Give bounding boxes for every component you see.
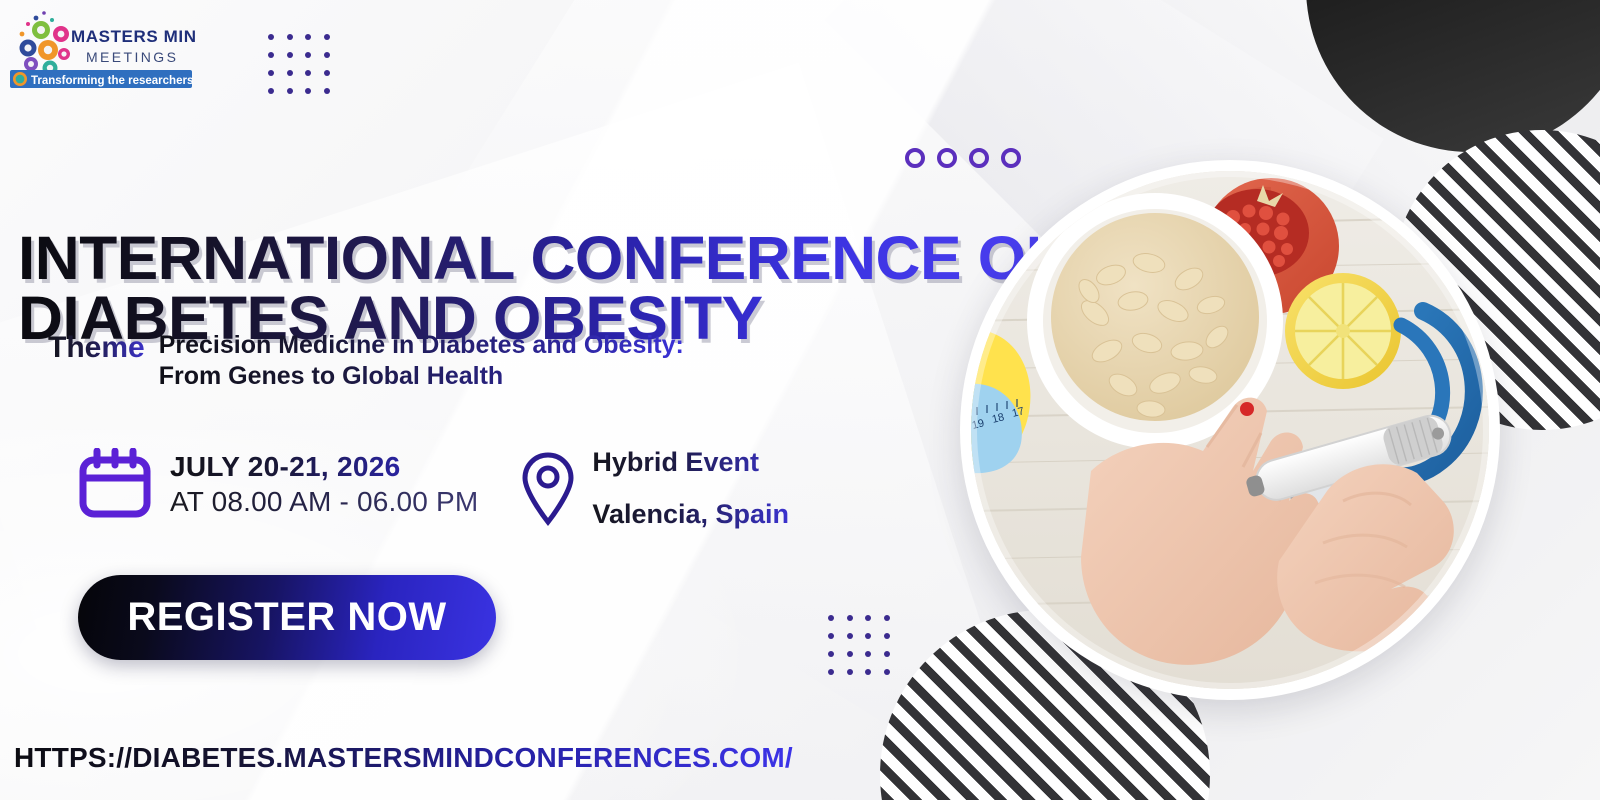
ring-icon bbox=[969, 148, 989, 168]
ring-icon bbox=[937, 148, 957, 168]
logo-tagline: Transforming the researchers Future bbox=[31, 75, 196, 87]
theme-line-1: Precision Medicine in Diabetes and Obesi… bbox=[159, 330, 684, 361]
hero-photo-frame: 19 18 17 bbox=[960, 160, 1500, 700]
event-mode: Hybrid Event bbox=[592, 448, 789, 478]
logo-title: MASTERS MIND bbox=[71, 27, 196, 46]
event-time: AT 08.00 AM - 06.00 PM bbox=[170, 486, 478, 518]
logo-subtitle: MEETINGS bbox=[86, 49, 178, 65]
ring-row-decoration bbox=[905, 148, 1021, 168]
headline-line-1: INTERNATIONAL CONFERENCE ON bbox=[18, 229, 1038, 289]
theme-text: Precision Medicine in Diabetes and Obesi… bbox=[159, 330, 684, 391]
event-location: Valencia, Spain bbox=[592, 500, 789, 530]
calendar-icon bbox=[78, 448, 152, 520]
theme-label: Theme bbox=[48, 330, 145, 367]
event-info-row: JULY 20-21, 2026 AT 08.00 AM - 06.00 PM … bbox=[78, 448, 789, 529]
blood-drop bbox=[1240, 402, 1254, 416]
theme-line-2: From Genes to Global Health bbox=[159, 361, 684, 392]
dark-circle-decoration bbox=[1306, 0, 1600, 152]
conference-banner: MASTERS MIND MEETINGS Transforming the r… bbox=[0, 0, 1600, 800]
ring-icon bbox=[1001, 148, 1021, 168]
dot-grid-top-decoration bbox=[268, 34, 330, 88]
event-location-lines: Hybrid Event Valencia, Spain bbox=[592, 448, 789, 529]
event-date-lines: JULY 20-21, 2026 AT 08.00 AM - 06.00 PM bbox=[170, 451, 478, 518]
location-pin-icon bbox=[520, 450, 576, 528]
website-url[interactable]: HTTPS://DIABETES.MASTERSMINDCONFERENCES.… bbox=[14, 742, 793, 774]
event-date-item: JULY 20-21, 2026 AT 08.00 AM - 06.00 PM bbox=[78, 448, 478, 520]
event-date: JULY 20-21, 2026 bbox=[170, 451, 478, 483]
diabetes-lancet-healthy-food-photo: 19 18 17 bbox=[971, 171, 1489, 689]
register-now-button[interactable]: REGISTER NOW bbox=[78, 575, 496, 660]
masters-mind-logo[interactable]: MASTERS MIND MEETINGS Transforming the r… bbox=[6, 4, 196, 104]
event-location-item: Hybrid Event Valencia, Spain bbox=[520, 448, 789, 529]
dot-grid-bottom-decoration bbox=[828, 615, 890, 671]
ring-icon bbox=[905, 148, 925, 168]
theme-block: Theme Precision Medicine in Diabetes and… bbox=[48, 330, 888, 391]
